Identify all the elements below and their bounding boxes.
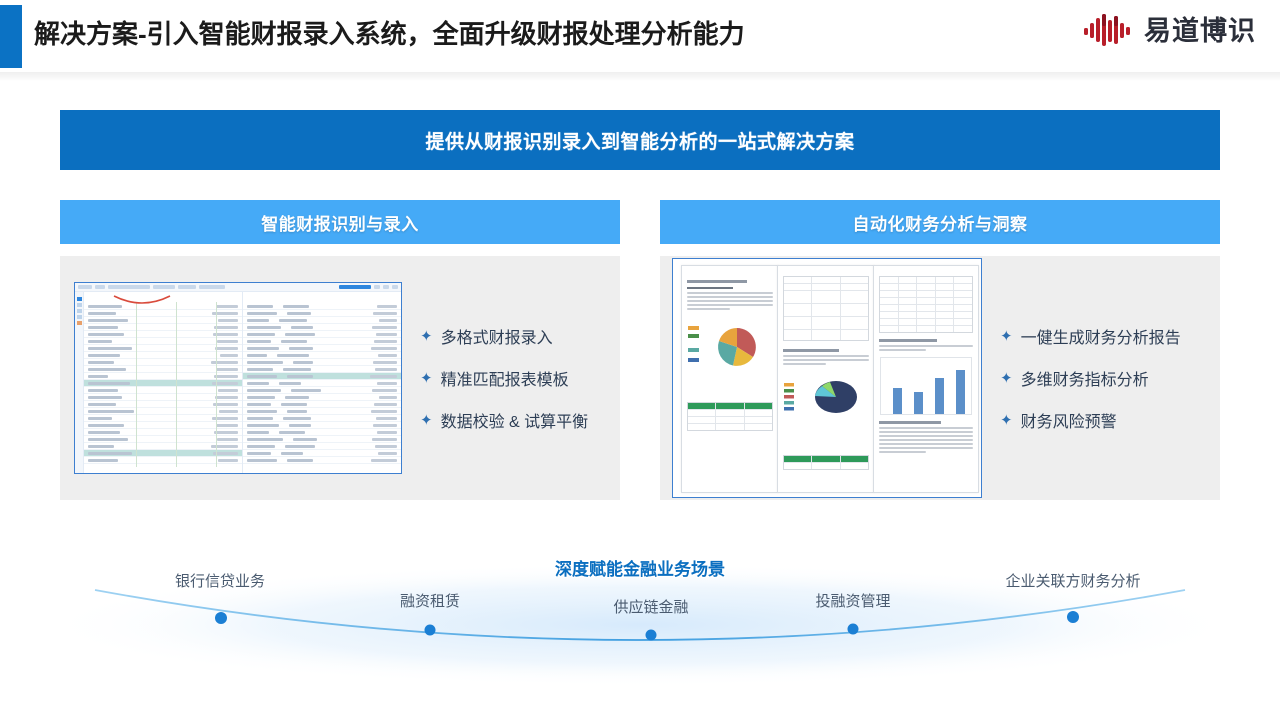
report-page-1 [681,265,779,493]
diamond-bullet-icon: ✦ [1000,329,1013,344]
column-automated-analysis: 自动化财务分析与洞察 [660,200,1220,500]
list-item: ✦ 多格式财报录入 [420,324,620,348]
page-title: 解决方案-引入智能财报录入系统，全面升级财报处理分析能力 [34,14,745,51]
column-right-heading: 自动化财务分析与洞察 [660,200,1220,244]
report-table-1 [687,402,773,431]
arc-label-financial-leasing: 融资租赁 [400,590,460,611]
column-right-bullet-list: ✦ 一健生成财务分析报告 ✦ 多维财务指标分析 ✦ 财务风险预警 [982,306,1220,450]
bullet-label: 财务风险预警 [1021,408,1117,432]
diamond-bullet-icon: ✦ [420,371,433,386]
bullet-label: 精准匹配报表模板 [441,366,569,390]
report-page-2 [777,265,875,493]
column-intelligent-recognition: 智能财报识别与录入 [60,200,620,500]
brand-name: 易道博识 [1144,18,1256,45]
bullet-label: 数据校验 & 试算平衡 [441,408,589,432]
solution-banner: 提供从财报识别录入到智能分析的一站式解决方案 [60,110,1220,170]
bullet-label: 多维财务指标分析 [1021,366,1149,390]
annotation-red-curve-icon [112,295,172,307]
column-left-bullet-list: ✦ 多格式财报录入 ✦ 精准匹配报表模板 ✦ 数据校验 & 试算平衡 [402,306,620,450]
report-table-2 [783,276,869,341]
pie-chart-current-assets [778,369,874,429]
report-table-3 [783,455,869,470]
diamond-bullet-icon: ✦ [1000,413,1013,428]
screenshot-mapping-table [243,292,401,474]
bar-chart-asset-scale-change [880,357,972,415]
list-item: ✦ 数据校验 & 试算平衡 [420,408,620,432]
solution-banner-text: 提供从财报识别录入到智能分析的一站式解决方案 [425,127,854,154]
column-right-body: ✦ 一健生成财务分析报告 ✦ 多维财务指标分析 ✦ 财务风险预警 [660,256,1220,500]
column-left-heading-text: 智能财报识别与录入 [261,210,419,235]
financial-analysis-report-pages-screenshot [672,258,982,498]
screenshot-sidebar [75,292,84,474]
pie-chart-asset-composition [682,316,778,378]
bullet-label: 一健生成财务分析报告 [1021,324,1181,348]
arc-label-investment-finance: 投融资管理 [815,590,890,611]
arc-label-supply-chain: 供应链金融 [613,596,688,617]
list-item: ✦ 财务风险预警 [1000,408,1220,432]
bullet-label: 多格式财报录入 [441,324,553,348]
screenshot-toolbar [75,283,401,292]
bottom-section-title: 深度赋能金融业务场景 [0,555,1280,580]
diamond-bullet-icon: ✦ [420,413,433,428]
financial-scenarios-arc: 深度赋能金融业务场景 银行信贷业务 融资租赁 供应链金融 投融资管理 企业关联方… [0,540,1280,700]
diamond-bullet-icon: ✦ [1000,371,1013,386]
header-accent-bar [0,5,22,68]
report-table-4 [879,276,973,333]
slide-root: 解决方案-引入智能财报录入系统，全面升级财报处理分析能力 [0,0,1280,720]
list-item: ✦ 精准匹配报表模板 [420,366,620,390]
brand-logo: 易道博识 [1083,14,1256,48]
header-divider [0,72,1280,81]
diamond-bullet-icon: ✦ [420,329,433,344]
list-item: ✦ 多维财务指标分析 [1000,366,1220,390]
slide-header: 解决方案-引入智能财报录入系统，全面升级财报处理分析能力 [0,0,1280,72]
list-item: ✦ 一健生成财务分析报告 [1000,324,1220,348]
screenshot-statement-table [84,292,243,474]
financial-statement-entry-app-screenshot [74,282,402,474]
column-left-body: ✦ 多格式财报录入 ✦ 精准匹配报表模板 ✦ 数据校验 & 试算平衡 [60,256,620,500]
column-right-heading-text: 自动化财务分析与洞察 [853,210,1028,235]
report-page-3 [873,265,979,493]
screenshot-body [75,292,401,474]
column-left-heading: 智能财报识别与录入 [60,200,620,244]
yidao-bars-logo-icon [1083,14,1135,48]
